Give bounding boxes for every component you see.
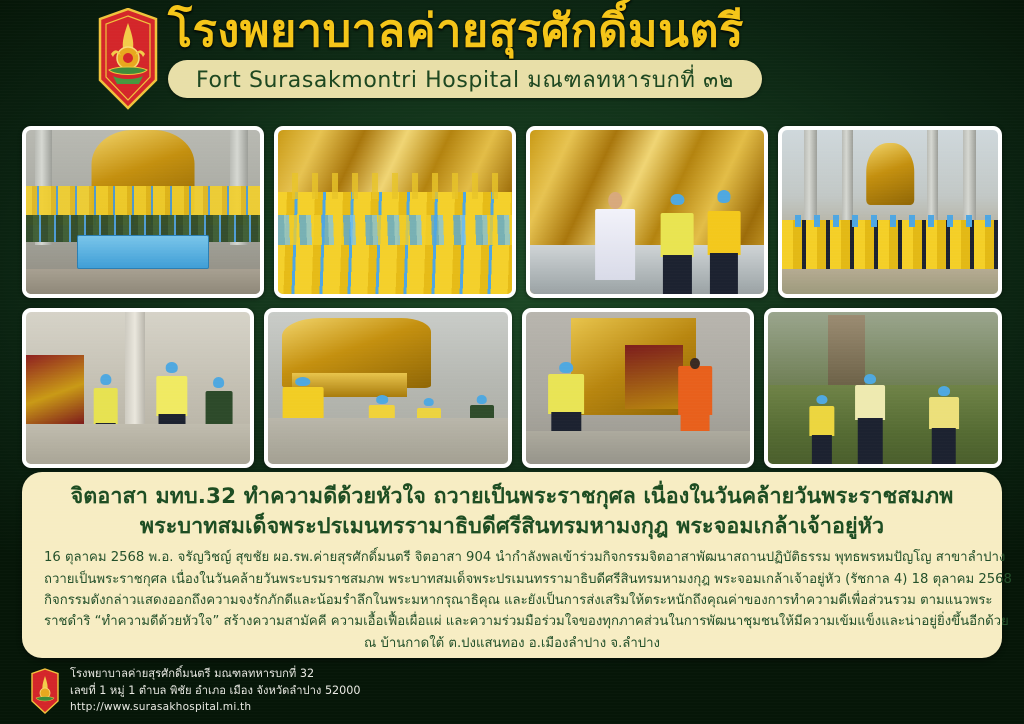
- footer-address: เลขที่ 1 หมู่ 1 ตำบล พิชัย อำเภอ เมือง จ…: [70, 683, 361, 700]
- headline-line-2: พระบาทสมเด็จพระปรเมนทรรามาธิบดีศรีสินทรม…: [44, 512, 980, 542]
- royal-thai-army-crest-icon: [97, 8, 159, 110]
- photo-clearing-grass-outdoors[interactable]: [764, 308, 1002, 468]
- subtitle-text: Fort Surasakmontri Hospital มณฑลทหารบกที…: [196, 62, 734, 97]
- subtitle-pill: Fort Surasakmontri Hospital มณฑลทหารบกที…: [168, 60, 762, 98]
- photo-officers-lined-up-with-brooms[interactable]: [778, 126, 1002, 298]
- poster-footer: โรงพยาบาลค่ายสุรศักดิ์มนตรี มณฑลทหารบกที…: [0, 660, 1024, 724]
- footer-org-name: โรงพยาบาลค่ายสุรศักดิ์มนตรี มณฑลทหารบกที…: [70, 666, 361, 683]
- footer-website[interactable]: http://www.surasakhospital.mi.th: [70, 700, 361, 716]
- body-line-2: ถวายเป็นพระราชกุศล เนื่องในวันคล้ายวันพร…: [44, 569, 980, 590]
- poster-header: โรงพยาบาลค่ายสุรศักดิ์มนตรี Fort Surasak…: [0, 0, 1024, 116]
- photo-sweeping-beside-golden-base[interactable]: [522, 308, 754, 468]
- photo-group-photo-in-front-of-golden-buddha[interactable]: [22, 126, 264, 298]
- body-line-3: กิจกรรมดังกล่าวแสดงออกถึงความจงรักภักดีแ…: [44, 590, 980, 611]
- headline-line-1: จิตอาสา มทบ.32 ทำความดีด้วยหัวใจ ถวายเป็…: [44, 482, 980, 512]
- body-line-4: ราชดำริ “ทำความดีด้วยหัวใจ” สร้างความสาม…: [44, 611, 980, 632]
- photo-gallery: [22, 126, 1002, 468]
- poster-root: โรงพยาบาลค่ายสุรศักดิ์มนตรี Fort Surasak…: [0, 0, 1024, 724]
- page-title: โรงพยาบาลค่ายสุรศักดิ์มนตรี: [168, 4, 968, 57]
- header-text-block: โรงพยาบาลค่ายสุรศักดิ์มนตรี Fort Surasak…: [168, 4, 968, 98]
- photo-monk-speaking-with-officers[interactable]: [526, 126, 768, 298]
- body-line-5: ณ บ้านกาดใต้ ต.ปงแสนทอง อ.เมืองลำปาง จ.ล…: [44, 633, 980, 654]
- photo-washing-floor-reclining-buddha[interactable]: [264, 308, 512, 468]
- photo-sweeping-inside-temple-hall[interactable]: [22, 308, 254, 468]
- royal-thai-army-crest-small-icon: [30, 668, 60, 714]
- announcement-panel: จิตอาสา มทบ.32 ทำความดีด้วยหัวใจ ถวายเป็…: [22, 472, 1002, 658]
- announcement-headline: จิตอาสา มทบ.32 ทำความดีด้วยหัวใจ ถวายเป็…: [44, 482, 980, 541]
- announcement-body: 16 ตุลาคม 2568 พ.อ. จรัญวิชญ์ สุขชัย ผอ.…: [44, 547, 980, 654]
- body-line-1: 16 ตุลาคม 2568 พ.อ. จรัญวิชญ์ สุขชัย ผอ.…: [44, 547, 980, 568]
- footer-address-block: โรงพยาบาลค่ายสุรศักดิ์มนตรี มณฑลทหารบกที…: [70, 666, 361, 715]
- photo-row-top: [22, 126, 1002, 298]
- photo-volunteers-raising-fists[interactable]: [274, 126, 516, 298]
- photo-row-bottom: [22, 308, 1002, 468]
